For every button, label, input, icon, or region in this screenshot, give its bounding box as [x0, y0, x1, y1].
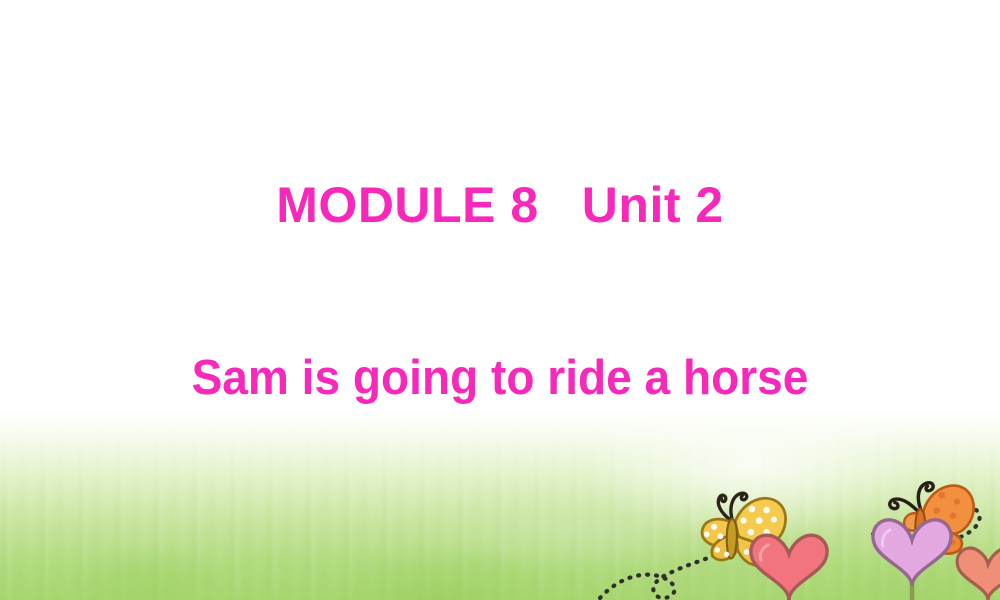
presentation-slide: MODULE 8 Unit 2 Sam is going to ride a h… — [0, 0, 1000, 600]
slide-title-lesson: Sam is going to ride a horse — [30, 352, 970, 406]
slide-title-module: MODULE 8 Unit 2 — [0, 178, 1000, 233]
background-haze — [580, 392, 920, 542]
